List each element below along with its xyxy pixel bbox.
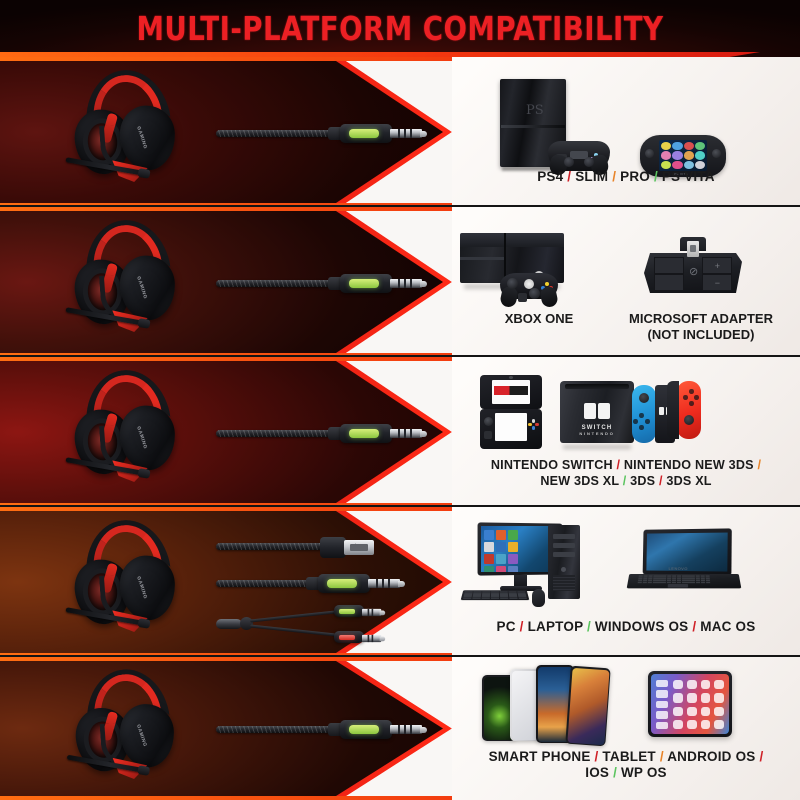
gaming-headset-image: GAMING [69, 520, 185, 643]
3.5mm-audio-jack [368, 578, 400, 589]
jack-ring [404, 279, 406, 288]
page-title: MULTI-PLATFORM COMPATIBILITY [28, 0, 772, 57]
jack-ring [398, 279, 400, 288]
keyboard-keys [463, 591, 527, 598]
device-area-nintendo: SWITCHNINTENDO [452, 357, 800, 507]
switch-logo [584, 403, 610, 419]
controller-stick-right [584, 157, 594, 167]
vita-stick-left [645, 149, 654, 158]
joycon-button [633, 419, 638, 424]
jack-ring [368, 609, 369, 616]
jack-ring [410, 129, 412, 138]
jack-ring [382, 579, 384, 588]
caption-separator: / [616, 458, 620, 472]
3ds-top-lid [480, 375, 542, 409]
cable-braid [216, 280, 338, 287]
caption-separator: / [660, 749, 664, 764]
jack-ring [410, 429, 412, 438]
caption-separator: / [567, 169, 571, 184]
tablet-sidebar-icons [656, 680, 668, 729]
caption-separator: / [612, 169, 616, 184]
row-caption-nintendo: NINTENDO SWITCH / NINTENDO NEW 3DS /NEW … [452, 457, 800, 489]
splitter-wire-headphone [250, 611, 336, 623]
caption-text: ANDROID OS [667, 749, 755, 764]
headphone-green-marker [339, 609, 355, 614]
gaming-headset-image: GAMING [70, 670, 183, 790]
joycon-button [645, 419, 650, 424]
smartphone-iphone-image [565, 666, 610, 747]
jack-tip [420, 131, 427, 137]
caption-separator: / [659, 474, 663, 488]
adapter-usb-plug [687, 241, 699, 257]
caption-separator: / [757, 458, 761, 472]
caption-separator: / [520, 619, 524, 634]
caption-line: SMART PHONE / TABLET / ANDROID OS / [452, 749, 800, 765]
dock-shadow [563, 445, 631, 449]
female-3.5mm-socket [216, 619, 242, 629]
cable-braid [216, 430, 338, 437]
mic-3.5mm-plug [362, 634, 381, 643]
compatibility-row-pc: GAMING ⋔ [0, 507, 800, 657]
vita-stick-right [712, 149, 721, 158]
headset-cable-3.5mm [216, 573, 426, 595]
3ds-dpad [484, 431, 492, 439]
jack-shaft [390, 429, 422, 438]
adapter-button [654, 274, 684, 291]
jack-ring [398, 429, 400, 438]
header-banner: MULTI-PLATFORM COMPATIBILITY [0, 0, 800, 57]
jack-tip [380, 636, 386, 641]
xbox-vent-band [460, 257, 504, 260]
3ds-face-buttons [528, 419, 539, 430]
joy-con-red-image [677, 381, 701, 439]
adapter-volume-down-icon: − [715, 278, 720, 288]
jack-ring [404, 725, 406, 734]
row-divider [0, 655, 800, 657]
laptop-image: LENOVO [628, 529, 740, 591]
jack-tip [420, 727, 427, 733]
caption-separator: / [595, 749, 599, 764]
xbox-controller-image [500, 269, 558, 307]
cable-braid [216, 130, 338, 137]
caption-text: PRO [620, 169, 650, 184]
laptop-brand: LENOVO [669, 566, 688, 571]
laptop-touchpad [668, 584, 688, 588]
controller-grip-left [499, 286, 519, 309]
caption-separator: / [759, 749, 763, 764]
tablet-app-grid [673, 680, 724, 729]
inline-volume-control [340, 124, 392, 143]
caption-text: MAC OS [700, 619, 755, 634]
usb-cable: ⋔ [216, 535, 426, 559]
joycon-button [683, 395, 688, 400]
jack-tip [398, 581, 405, 587]
tower-power-button [561, 567, 566, 572]
row-divider [0, 505, 800, 507]
usb-a-plug: ⋔ [344, 540, 374, 555]
caption-separator: / [613, 765, 617, 780]
caption-text: PS4 [537, 169, 563, 184]
cable-braid [216, 543, 326, 550]
cable-braid [216, 580, 314, 587]
caption-text: SMART PHONE [489, 749, 591, 764]
caption-text: TABLET [602, 749, 655, 764]
laptop-keyboard [638, 575, 711, 583]
nintendo-switch-dock-image: SWITCHNINTENDO [560, 381, 634, 449]
3ds-bottom-screen [495, 413, 527, 441]
adapter-volume-up-icon: + [715, 261, 720, 271]
control-led-indicator [349, 279, 379, 288]
row-caption-mobile: SMART PHONE / TABLET / ANDROID OS /IOS /… [452, 749, 800, 781]
headphone-plug-housing [334, 605, 364, 617]
3.5mm-audio-jack [390, 724, 422, 735]
inline-volume-control [318, 574, 370, 593]
device-area-ps4: PS [452, 57, 800, 207]
caption-line: PS4 / SLIM / PRO / PS VITA [452, 169, 800, 185]
row-divider [0, 355, 800, 357]
tower-vent [553, 575, 575, 591]
jack-shaft [368, 579, 400, 588]
windows-start-tiles [484, 530, 518, 568]
control-led-indicator [349, 129, 379, 138]
caption-separator: / [654, 169, 658, 184]
gaming-headset-image: GAMING [69, 220, 185, 343]
caption-text: PC [497, 619, 516, 634]
controller-stick-left [507, 278, 518, 289]
joy-con-blue-image [632, 385, 656, 443]
caption-text: WINDOWS OS [595, 619, 689, 634]
jack-shaft [390, 279, 422, 288]
joycon-body [632, 385, 656, 443]
caption-text: NINTENDO SWITCH [491, 458, 613, 472]
jack-ring [410, 279, 412, 288]
compatibility-row-ps4: GAMING PS [0, 57, 800, 207]
caption-text: 3DS [630, 474, 655, 488]
tablet-screen [651, 674, 729, 734]
gaming-headset-image: GAMING [69, 370, 185, 493]
mouse-image [532, 589, 545, 607]
headphone-3.5mm-plug [362, 608, 381, 617]
joycon-analog-stick [639, 393, 649, 403]
jack-ring [398, 129, 400, 138]
3.5mm-audio-jack [390, 128, 422, 139]
jack-ring [404, 129, 406, 138]
joycon-grip [667, 381, 679, 439]
row-caption-xbox-console: XBOX ONE [474, 311, 604, 327]
jack-ring [372, 609, 373, 616]
ps4-logo: PS [526, 103, 540, 119]
vita-screen [659, 140, 707, 171]
caption-text: 3DS XL [666, 474, 711, 488]
control-led-indicator [349, 725, 379, 734]
nintendo-3ds-image [480, 375, 542, 449]
adapter-mute-icon: ⊘ [689, 265, 701, 277]
pc-tower-image [548, 525, 580, 599]
jack-ring [410, 725, 412, 734]
splitter-wire-mic [250, 625, 336, 637]
caption-line: IOS / WP OS [452, 765, 800, 781]
compatibility-row-xbox: GAMING [0, 207, 800, 357]
jack-shaft [390, 129, 422, 138]
headset-cable-3.5mm [216, 123, 416, 145]
joycon-button [639, 425, 644, 430]
inline-volume-control [340, 424, 392, 443]
multi-platform-compatibility-infographic: MULTI-PLATFORM COMPATIBILITY GAMING [0, 0, 800, 800]
3ds-logo [494, 386, 528, 395]
jack-ring [372, 635, 373, 642]
compatibility-row-mobile: GAMING [0, 657, 800, 800]
jack-ring [404, 429, 406, 438]
laptop-lid: LENOVO [643, 528, 732, 575]
row-divider [0, 205, 800, 207]
caption-text: WP OS [621, 765, 667, 780]
caption-line: MICROSOFT ADAPTER [602, 311, 800, 327]
usb-connector-housing [320, 537, 346, 558]
jack-tip [420, 431, 427, 437]
caption-line: NEW 3DS XL / 3DS / 3DS XL [452, 473, 800, 489]
3.5mm-audio-jack [390, 278, 422, 289]
headset-cable-3.5mm [216, 273, 416, 295]
row-caption-pc: PC / LAPTOP / WINDOWS OS / MAC OS [452, 619, 800, 635]
keyboard-image [461, 590, 530, 600]
jack-ring [368, 635, 369, 642]
caption-text: PS VITA [662, 169, 715, 184]
caption-separator: / [623, 474, 627, 488]
caption-line: NINTENDO SWITCH / NINTENDO NEW 3DS / [452, 457, 800, 473]
mic-plug-housing [334, 631, 364, 643]
usb-logo: ⋔ [353, 545, 365, 550]
laptop-base [627, 574, 742, 588]
phone-screen [567, 667, 609, 744]
controller-stick-right [529, 288, 540, 299]
joycon-button [694, 395, 699, 400]
dock-console-slot [565, 384, 629, 389]
joycon-button [639, 413, 644, 418]
controller-dpad [518, 293, 527, 302]
joycon-analog-stick [684, 415, 694, 425]
xbox-top-shell [460, 233, 564, 247]
caption-line: (NOT INCLUDED) [602, 327, 800, 343]
caption-line: PC / LAPTOP / WINDOWS OS / MAC OS [452, 619, 800, 635]
row-caption-ps4: PS4 / SLIM / PRO / PS VITA [452, 169, 800, 185]
joycon-button [689, 389, 694, 394]
jack-shaft [390, 725, 422, 734]
jack-tip [420, 281, 427, 287]
jack-ring [376, 579, 378, 588]
y-splitter-adapter [216, 603, 426, 645]
switch-wordmark: SWITCHNINTENDO [560, 425, 634, 436]
jack-ring [388, 579, 390, 588]
3ds-bottom-base [480, 409, 542, 449]
adapter-button [654, 257, 684, 274]
tablet-ipad-image [648, 671, 732, 737]
cable-braid [216, 726, 338, 733]
device-area-mobile: SMART PHONE / TABLET / ANDROID OS /IOS /… [452, 657, 800, 800]
caption-text: NEW 3DS XL [540, 474, 619, 488]
3ds-camera [509, 376, 513, 379]
compatibility-row-nintendo: GAMING [0, 357, 800, 507]
caption-separator: / [692, 619, 696, 634]
caption-text: NINTENDO NEW 3DS [624, 458, 754, 472]
row-caption-xbox-adapter: MICROSOFT ADAPTER(NOT INCLUDED) [602, 311, 800, 343]
caption-text: LAPTOP [528, 619, 583, 634]
3ds-top-screen [492, 380, 530, 404]
3.5mm-audio-jack [390, 428, 422, 439]
mic-red-marker [339, 635, 355, 640]
inline-volume-control [340, 274, 392, 293]
device-area-pc: LENOVO PC / LAPTOP / WINDOWS OS / MAC OS [452, 507, 800, 657]
caption-text: IOS [585, 765, 609, 780]
headset-cable-3.5mm [216, 719, 416, 741]
joycon-button [689, 401, 694, 406]
caption-line: XBOX ONE [474, 311, 604, 327]
caption-text: SLIM [575, 169, 608, 184]
3ds-circle-pad [484, 417, 493, 426]
jack-tip [380, 610, 386, 615]
gaming-headset-image: GAMING [69, 70, 185, 193]
control-led-indicator [327, 579, 357, 588]
vita-icon-grid [661, 142, 705, 169]
control-led-indicator [349, 429, 379, 438]
device-area-xbox: ⊘ + − XBOX ONE MICROSOFT ADAPTER(NOT INC… [452, 207, 800, 357]
jack-ring [398, 725, 400, 734]
headset-cable-3.5mm [216, 423, 416, 445]
dock-body: SWITCHNINTENDO [560, 381, 634, 443]
tower-drive-bays [553, 534, 575, 560]
controller-stick-left [564, 157, 574, 167]
microsoft-adapter-image: ⊘ + − [644, 237, 742, 297]
ps4-disc-slot [501, 125, 565, 128]
caption-separator: / [587, 619, 591, 634]
joycon-body [677, 381, 701, 439]
inline-volume-control [340, 720, 392, 739]
